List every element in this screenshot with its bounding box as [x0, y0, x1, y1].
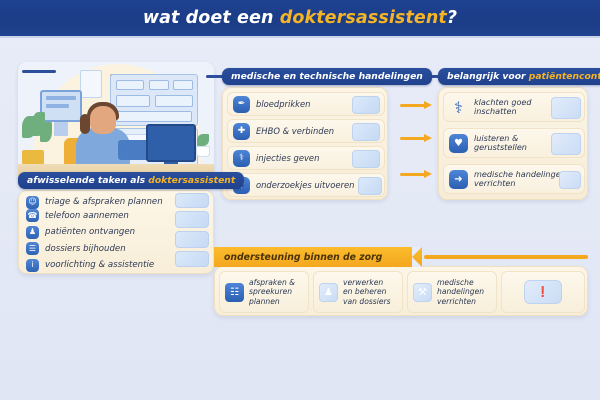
list-item-label: injecties geven [256, 153, 319, 163]
support-card-label-line3: van dossiers [343, 297, 391, 306]
cabinet-shelf-4 [116, 95, 150, 107]
middle-section-header: medische en technische handelingen [222, 68, 432, 85]
injection-thumb [352, 150, 380, 168]
support-card-label: medische handelingen verrichten [437, 278, 484, 305]
support-card-label-line1: afspraken & [249, 278, 295, 287]
flow-arrow-shaft [400, 173, 426, 176]
support-card[interactable]: ♟ verwerken en beheren van dossiers [313, 271, 403, 313]
middle-section-header-text: medische en technische handelingen [231, 72, 423, 81]
list-item-label: EHBO & verbinden [256, 126, 334, 136]
flow-arrow-head [424, 101, 432, 109]
blood-draw-thumb [352, 96, 380, 114]
person-icon: ♟ [26, 226, 39, 239]
phone-icon: ☎ [26, 209, 39, 222]
support-card[interactable]: ☷ afspraken & spreekuren plannen [219, 271, 309, 313]
monitor-line-1 [46, 96, 76, 100]
list-item[interactable]: ⚲ onderzoekjes uitvoeren [227, 173, 385, 197]
flow-arrow [400, 170, 434, 180]
list-item[interactable]: ✚ EHBO & verbinden [227, 119, 385, 143]
file-folder-thumb [175, 231, 209, 248]
list-item[interactable]: ♥ luisteren & geruststellen [443, 128, 585, 158]
desk-plant-leaf [197, 134, 209, 146]
first-aid-thumb [352, 123, 380, 141]
flow-arrow [400, 134, 434, 144]
assistant-head [90, 106, 116, 134]
support-card-label: verwerken en beheren van dossiers [343, 278, 391, 305]
support-card-label-line2: en beheren [343, 287, 391, 296]
lab-test-thumb [358, 177, 382, 195]
cabinet-shelf-2 [149, 80, 169, 90]
cabinet-shelf-5 [155, 95, 193, 107]
medical-actions-panel: ✒ bloedprikken ✚ EHBO & verbinden ⚕ inje… [222, 87, 388, 200]
list-item-label: patiënten ontvangen [45, 227, 135, 237]
monitor-line-2 [46, 104, 69, 108]
list-item[interactable]: ✒ bloedprikken [227, 92, 385, 116]
reception-person-thumb [175, 211, 209, 228]
support-card[interactable]: ❗ [501, 271, 585, 313]
page-title: wat doet een doktersassistent? [143, 8, 457, 28]
list-item-label: voorlichting & assistentie [45, 260, 154, 270]
flow-arrow [400, 101, 434, 111]
two-people-thumb: ♟ [319, 283, 338, 302]
list-item-label: bloedprikken [256, 99, 310, 109]
listening-pair-thumb [551, 133, 581, 155]
support-card-label-line3: plannen [249, 297, 295, 306]
arrow-right-icon: ➜ [449, 170, 468, 189]
flow-arrow-shaft [400, 104, 426, 107]
monitor-stand [54, 122, 68, 136]
stethoscope-icon: ⚕ [449, 98, 468, 117]
support-card-label-line2: handelingen [437, 287, 484, 296]
cabinet-shelf-6 [116, 111, 192, 122]
support-card-label: afspraken & spreekuren plannen [249, 278, 295, 305]
list-item-label: triage & afspraken plannen [45, 197, 163, 207]
list-item[interactable]: ➜ medische handelingen verrichten [443, 164, 585, 194]
list-item-label: medische handelingen verrichten [474, 170, 566, 189]
cabinet-shelf-1 [116, 80, 144, 90]
flow-arrow-head [424, 170, 432, 178]
desk-plant-pot [196, 146, 210, 157]
bandage-icon: ✚ [233, 123, 250, 140]
page-header-bar: wat doet een doktersassistent? [0, 0, 600, 38]
info-icon: i [26, 259, 39, 272]
records-list-icon: ☰ [26, 242, 39, 255]
list-item[interactable]: ⚕ klachten goed inschatten [443, 92, 585, 122]
left-task-list-panel: ☺ triage & afspraken plannen ☎ telefoon … [18, 190, 214, 274]
connector-line-left [22, 70, 56, 73]
banner-extension-line [424, 255, 588, 259]
medical-tools-thumb: ⚒ [413, 283, 432, 302]
flow-arrow-head [424, 134, 432, 142]
speech-bubble-patient-thumb [551, 97, 581, 119]
doktersassistent-illustration [18, 62, 214, 184]
appointment-alert-thumb [175, 193, 209, 208]
support-card-label-line1: medische [437, 278, 484, 287]
right-section-header-text: belangrijk voor patiëntencontact [447, 72, 600, 81]
page-title-suffix: ? [447, 8, 457, 28]
support-card-label-line2: spreekuren [249, 287, 295, 296]
page-title-prefix: wat doet een [143, 8, 280, 28]
list-item-label-line2: geruststellen [474, 143, 527, 152]
support-card-label-line3: verrichten [437, 297, 484, 306]
banner-ribbon-notch [412, 247, 422, 267]
list-item-label-line2: inschatten [474, 107, 532, 116]
clipboard-icon: ☷ [225, 283, 244, 302]
bottom-section-banner-text: ondersteuning binnen de zorg [224, 252, 382, 263]
heart-icon: ♥ [449, 134, 468, 153]
patient-contact-panel: ⚕ klachten goed inschatten ♥ luisteren &… [438, 87, 588, 200]
assistance-clock-thumb [175, 251, 209, 267]
wall-poster-1 [80, 70, 102, 98]
right-section-header: belangrijk voor patiëntencontact [438, 68, 600, 85]
left-section-header: afwisselende taken als doktersassistent [18, 172, 244, 189]
storage-cabinet [110, 74, 198, 126]
list-item-label: onderzoekjes uitvoeren [256, 180, 354, 190]
list-item[interactable]: ⚕ injecties geven [227, 146, 385, 170]
alert-check-thumb: ❗ [524, 280, 562, 304]
left-section-header-text: afwisselende taken als doktersassistent [27, 176, 235, 185]
support-card[interactable]: ⚒ medische handelingen verrichten [407, 271, 497, 313]
shield-lock-thumb [559, 171, 581, 189]
list-item-label: luisteren & geruststellen [474, 134, 527, 153]
syringe-icon: ✒ [233, 96, 250, 113]
cabinet-shelf-3 [173, 80, 193, 90]
bottom-section-banner: ondersteuning binnen de zorg [214, 247, 422, 267]
page-title-accent: doktersassistent [280, 8, 447, 28]
list-item-label: dossiers bijhouden [45, 244, 126, 254]
support-card-label-line1: verwerken [343, 278, 391, 287]
list-item-label: telefoon aannemen [45, 211, 129, 221]
list-item-label-line2: verrichten [474, 179, 566, 188]
list-item-label: klachten goed inschatten [474, 98, 532, 117]
right-monitor [146, 124, 196, 162]
support-cards-panel: ☷ afspraken & spreekuren plannen ♟ verwe… [214, 266, 588, 316]
plant-leaf-3 [40, 122, 52, 142]
injection-icon: ⚕ [233, 150, 250, 167]
assistant-ponytail [80, 114, 90, 134]
flow-arrow-shaft [400, 137, 426, 140]
